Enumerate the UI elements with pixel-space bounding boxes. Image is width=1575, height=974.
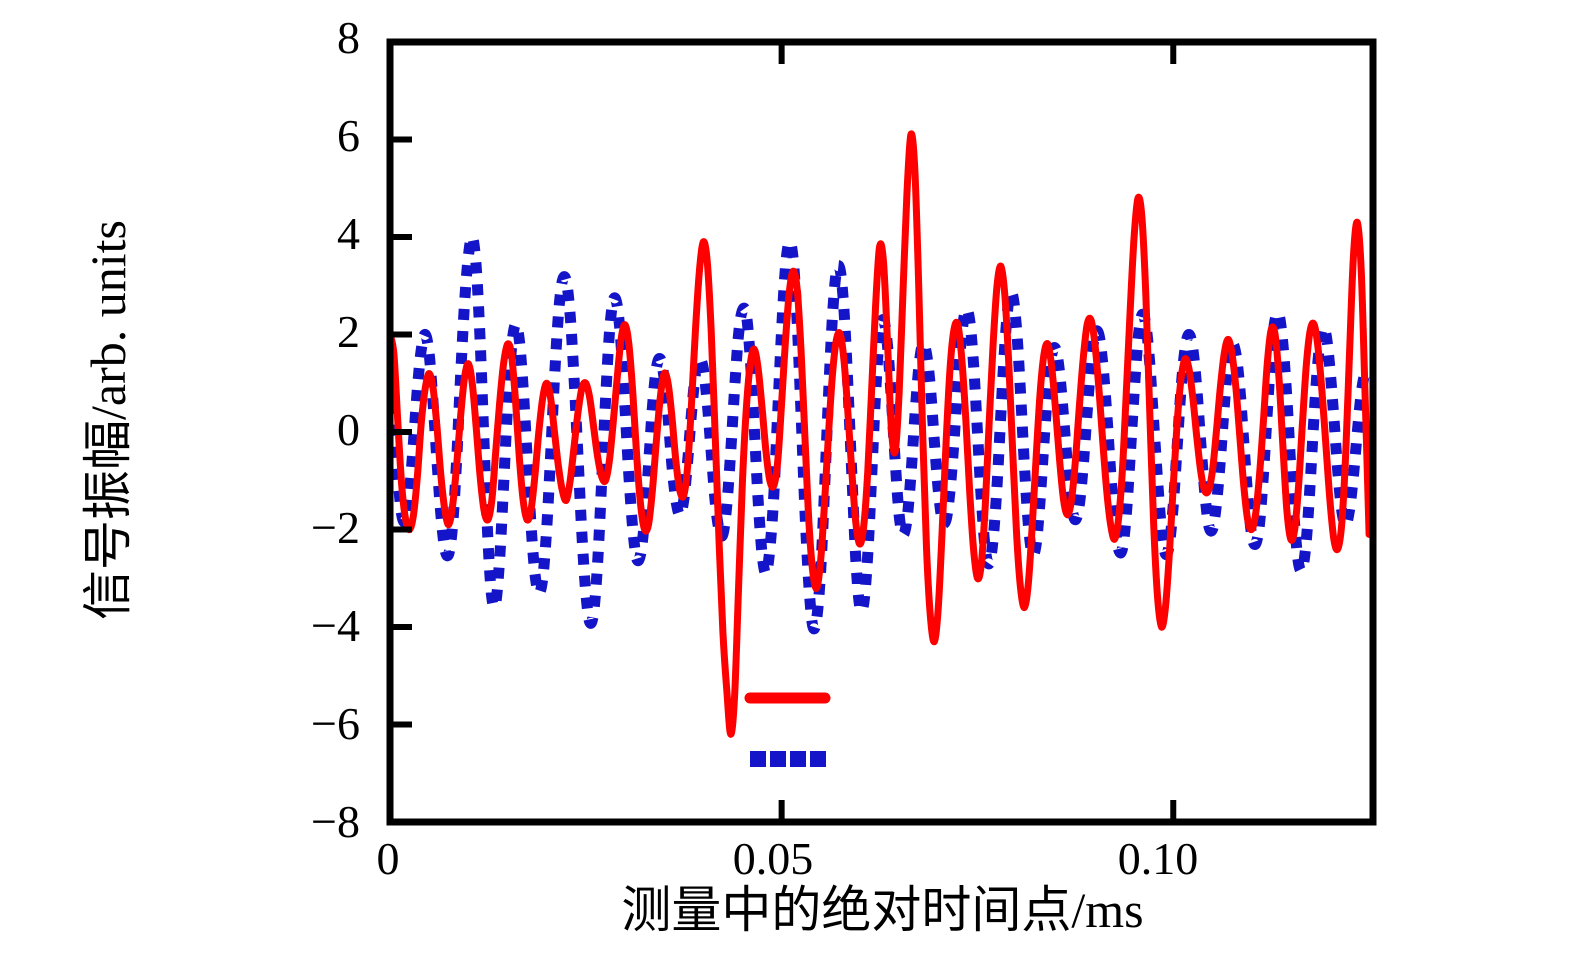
chart-plot-area <box>0 0 1575 974</box>
figure-container: 信号振幅/arb. units 8 6 4 2 0 −2 −4 −6 −8 0 … <box>0 0 1575 974</box>
